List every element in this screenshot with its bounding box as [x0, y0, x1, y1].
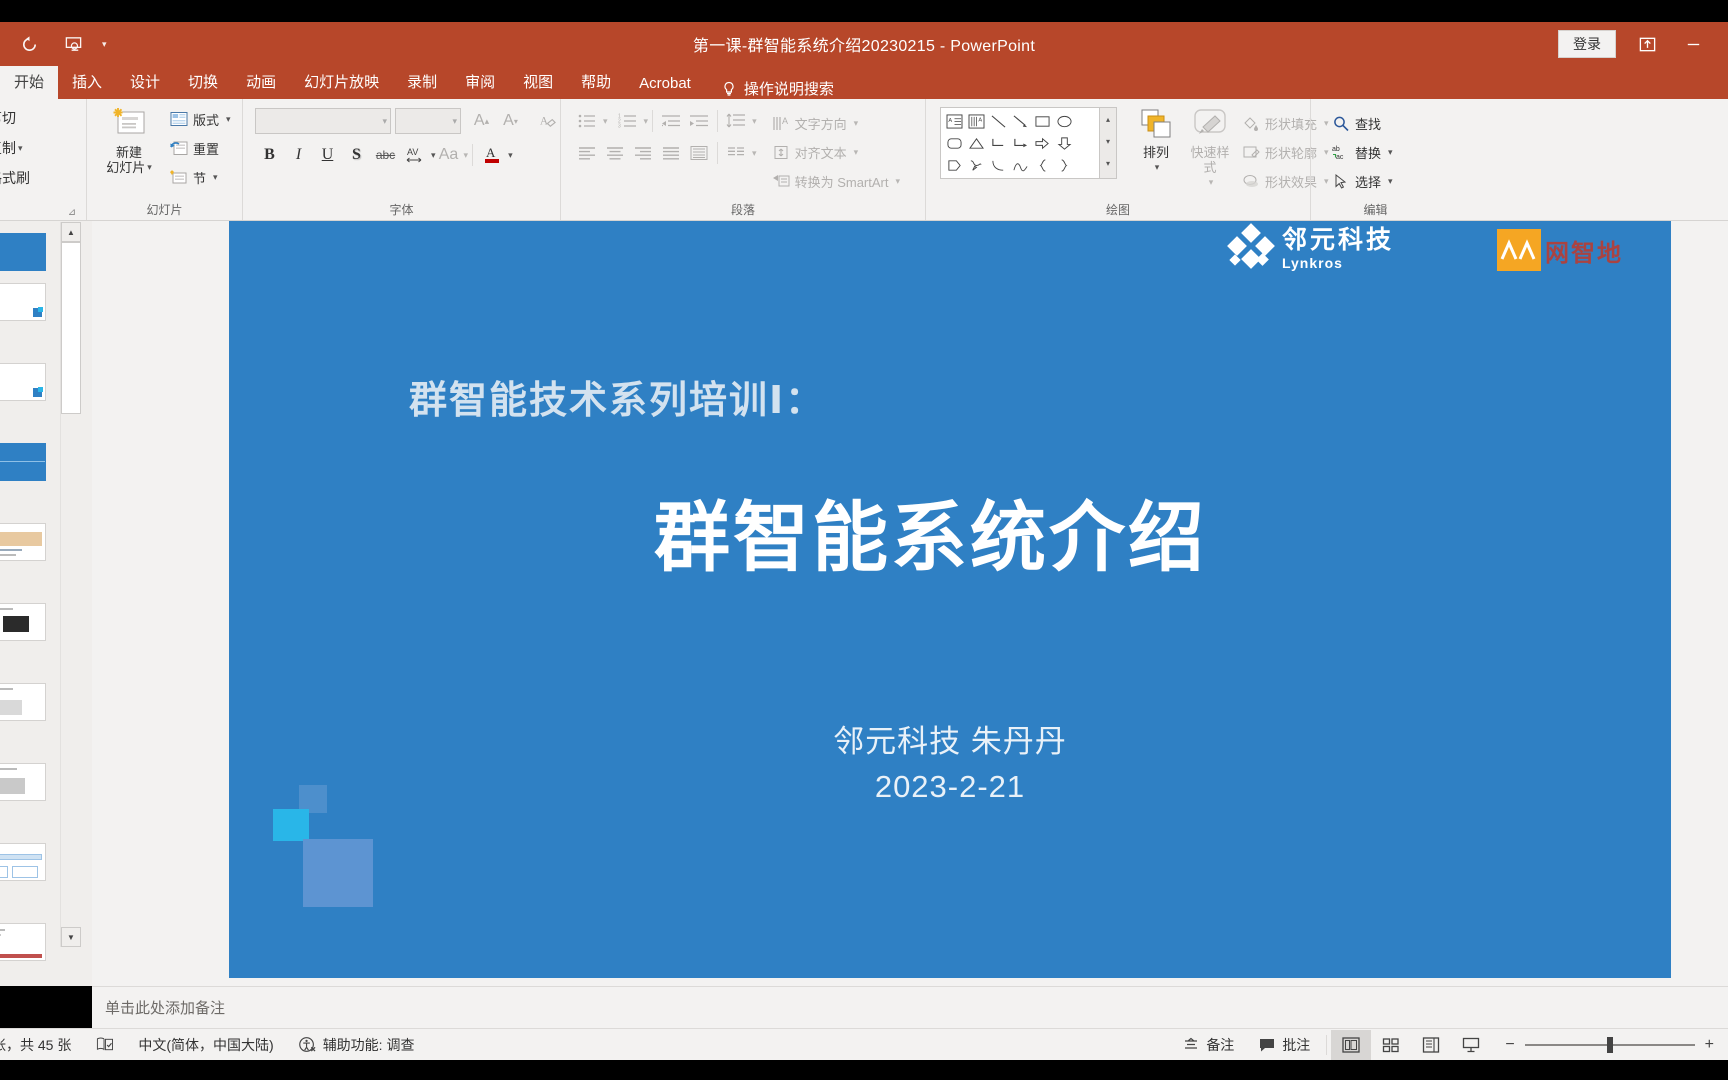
spellcheck-icon	[95, 1036, 114, 1053]
justify-button[interactable]	[657, 139, 685, 167]
tab-design[interactable]: 设计	[116, 66, 174, 99]
reading-view-button[interactable]	[1411, 1030, 1451, 1060]
chevron-down-icon[interactable]: ▾	[464, 150, 469, 161]
shape-effects-icon	[1242, 173, 1260, 190]
slide-sorter-view-button[interactable]	[1371, 1030, 1411, 1060]
arrange-icon	[1135, 105, 1177, 145]
find-button[interactable]: 查找	[1327, 109, 1398, 138]
tab-insert[interactable]: 插入	[58, 66, 116, 99]
shape-elbow-connector-icon[interactable]	[987, 132, 1009, 154]
reset-button[interactable]: 重置	[165, 134, 236, 163]
chevron-down-icon: ▾	[1155, 160, 1160, 175]
smartart-icon	[772, 173, 790, 190]
shapes-scroll-up-button[interactable]: ▴	[1100, 108, 1116, 130]
chevron-down-icon: ▾	[1388, 176, 1393, 187]
font-color-button[interactable]: A	[477, 141, 506, 169]
logo-partner: 网智地	[1497, 229, 1623, 271]
shape-rounded-rectangle-icon[interactable]	[943, 132, 965, 154]
accessibility-status[interactable]: 辅助功能: 调查	[286, 1029, 427, 1061]
tab-record[interactable]: 录制	[393, 66, 451, 99]
layout-button[interactable]: 版式 ▾	[165, 105, 236, 134]
normal-view-button[interactable]	[1331, 1030, 1371, 1060]
list-item[interactable]	[0, 843, 46, 881]
group-label-font: 字体	[249, 202, 554, 220]
text-shadow-button[interactable]: S	[342, 141, 371, 169]
svg-text:A: A	[540, 115, 549, 127]
divider	[717, 142, 718, 164]
ribbon-group-slides: 新建 幻灯片▾ 版式 ▾ 重置	[86, 99, 242, 220]
chevron-down-icon: ▾	[1388, 147, 1393, 158]
shape-right-brace-icon[interactable]	[1053, 154, 1075, 176]
list-item[interactable]	[0, 923, 46, 961]
quick-styles-label: 快速样式	[1189, 145, 1231, 175]
scroll-up-button[interactable]: ▲	[61, 222, 81, 242]
group-label-drawing: 绘图	[932, 202, 1304, 220]
group-label-clipboard: ⊿	[6, 202, 80, 220]
new-slide-icon	[109, 105, 149, 145]
shape-curve-icon[interactable]	[987, 154, 1009, 176]
list-item[interactable]	[0, 763, 46, 801]
ribbon-group-editing: 查找 abac 替换 ▾ 选择 ▾ 编辑	[1310, 99, 1440, 220]
section-button[interactable]: 节 ▾	[165, 163, 236, 192]
bold-button[interactable]: B	[255, 141, 284, 169]
arrange-label: 排列	[1143, 145, 1169, 160]
zoom-control[interactable]: − +	[1491, 1036, 1728, 1054]
shape-arrow-icon[interactable]	[1009, 110, 1031, 132]
search-icon	[1332, 115, 1350, 132]
svg-text:A: A	[948, 117, 952, 123]
tell-me-label: 操作说明搜索	[744, 78, 834, 99]
mountain-icon	[1497, 229, 1541, 271]
svg-text:A: A	[486, 145, 496, 160]
ribbon: 剪切 复制▾ 格式刷 ⊿	[0, 99, 1728, 221]
reset-icon	[170, 140, 188, 157]
divider	[1326, 1035, 1327, 1055]
svg-text:AV: AV	[407, 147, 418, 157]
chevron-down-icon: ▾	[213, 172, 218, 183]
title-bar: ▾ 第一课-群智能系统介绍20230215 - PowerPoint 登录	[0, 22, 1728, 66]
status-bar-right: 备注 批注 −	[1170, 1029, 1728, 1061]
tab-animations[interactable]: 动画	[232, 66, 290, 99]
replace-button[interactable]: abac 替换 ▾	[1327, 138, 1398, 167]
svg-text:ac: ac	[1336, 154, 1344, 161]
text-direction-button[interactable]: A 文字方向 ▾	[767, 109, 905, 138]
new-slide-label-1: 新建	[116, 145, 142, 160]
shapes-scroll-down-button[interactable]: ▾	[1100, 130, 1116, 152]
new-slide-button[interactable]: 新建 幻灯片▾	[93, 103, 165, 177]
scroll-down-button[interactable]: ▼	[61, 927, 81, 947]
shape-right-arrow-icon[interactable]	[1031, 132, 1053, 154]
notes-placeholder: 单击此处添加备注	[92, 997, 225, 1018]
increase-indent-button[interactable]	[685, 107, 713, 135]
notes-icon	[1182, 1037, 1200, 1053]
shape-more-placeholder	[1075, 132, 1097, 154]
svg-text:ab: ab	[1332, 146, 1340, 153]
logo-lynkros: 邻元科技 Lynkros	[1228, 226, 1394, 272]
shapes-more-button[interactable]: ▾	[1100, 152, 1116, 174]
shape-more-placeholder	[1075, 154, 1097, 176]
chevron-down-icon: ▾	[1209, 175, 1214, 190]
list-item[interactable]	[0, 603, 46, 641]
lightbulb-icon	[721, 81, 737, 97]
section-icon	[170, 169, 188, 186]
ribbon-group-font: ▾ ▾ A▴ A▾ A B I U S	[242, 99, 560, 220]
shapes-gallery-scroller: ▴ ▾ ▾	[1100, 107, 1117, 179]
text-direction-icon: A	[772, 115, 790, 132]
svg-text:A: A	[782, 116, 788, 126]
ribbon-tab-bar: 开始 插入 设计 切换 动画 幻灯片放映 录制 审阅 视图 帮助 Acrobat…	[0, 66, 1728, 99]
chevron-down-icon: ▾	[452, 116, 457, 127]
group-label-paragraph: 段落	[567, 202, 919, 220]
dialog-launcher-icon[interactable]: ⊿	[66, 207, 78, 219]
align-text-button[interactable]: 对齐文本 ▾	[767, 138, 905, 167]
shape-rectangle-icon[interactable]	[1031, 110, 1053, 132]
character-spacing-button[interactable]: AV	[400, 141, 429, 169]
line-spacing-button[interactable]	[722, 107, 750, 135]
diamond-pattern-icon	[1228, 226, 1274, 272]
copy-button[interactable]: 复制▾	[0, 133, 30, 163]
change-case-button[interactable]: Aa	[436, 141, 462, 169]
decrease-font-size-button[interactable]: A▾	[496, 107, 525, 135]
increase-font-size-button[interactable]: A▴	[467, 107, 496, 135]
quick-styles-button[interactable]: 快速样式 ▾	[1183, 103, 1237, 192]
columns-button[interactable]	[722, 139, 750, 167]
font-name-combobox[interactable]: ▾	[255, 108, 391, 134]
align-text-icon	[772, 144, 790, 161]
decrease-indent-button[interactable]	[657, 107, 685, 135]
arrange-button[interactable]: 排列 ▾	[1129, 103, 1183, 177]
tab-transitions[interactable]: 切换	[174, 66, 232, 99]
quick-styles-icon	[1189, 105, 1231, 145]
distribute-text-button[interactable]	[685, 139, 713, 167]
logo-lynkros-en: Lynkros	[1282, 256, 1394, 270]
shape-down-arrow-icon[interactable]	[1053, 132, 1075, 154]
slide-kicker-text[interactable]: 群智能技术系列培训Ⅰ：	[409, 369, 825, 424]
zoom-in-button[interactable]: +	[1705, 1036, 1714, 1054]
ribbon-group-drawing: A A	[925, 99, 1310, 220]
shape-triangle-icon[interactable]	[965, 132, 987, 154]
clear-formatting-icon[interactable]: A	[533, 107, 562, 135]
slide-title[interactable]: 群智能系统介绍	[654, 476, 1207, 586]
select-button[interactable]: 选择 ▾	[1327, 167, 1398, 196]
shape-textbox-icon[interactable]: A	[943, 110, 965, 132]
shape-freeform-icon[interactable]	[965, 154, 987, 176]
shape-fill-icon	[1242, 115, 1260, 132]
divider	[472, 144, 473, 166]
cut-button[interactable]: 剪切	[0, 103, 30, 133]
divider	[717, 110, 718, 132]
group-label-editing: 编辑	[1317, 202, 1434, 220]
chevron-down-icon: ▾	[382, 116, 387, 127]
group-label-slides: 幻灯片	[93, 202, 236, 220]
language-status[interactable]: 中文(简体，中国大陆)	[126, 1029, 285, 1061]
new-slide-label-2: 幻灯片	[106, 160, 145, 175]
tab-home[interactable]: 开始	[0, 66, 58, 99]
ribbon-group-paragraph: ▾ 123 ▾ ▾	[560, 99, 925, 220]
slide-canvas[interactable]: 邻元科技 Lynkros 网智地 群智能技术系列培训Ⅰ： 群智能系统介绍 邻元科…	[229, 221, 1671, 978]
strikethrough-button[interactable]: abc	[371, 141, 400, 169]
list-item[interactable]	[0, 523, 46, 561]
spellcheck-status[interactable]	[83, 1029, 126, 1061]
comment-icon	[1258, 1037, 1276, 1053]
chevron-down-icon: ▾	[147, 160, 152, 175]
tab-acrobat[interactable]: Acrobat	[625, 70, 705, 99]
tab-help[interactable]: 帮助	[567, 66, 625, 99]
thumbnail-scrollbar[interactable]: ▲ ▼	[60, 222, 80, 947]
list-item[interactable]	[0, 363, 46, 401]
chevron-down-icon: ▾	[854, 147, 859, 158]
chevron-down-icon[interactable]: ▾	[508, 150, 513, 161]
shape-arc-icon[interactable]	[1009, 154, 1031, 176]
ribbon-group-clipboard: 剪切 复制▾ 格式刷 ⊿	[0, 99, 86, 220]
align-left-button[interactable]	[573, 139, 601, 167]
shape-line-icon[interactable]	[987, 110, 1009, 132]
chevron-down-icon: ▾	[854, 118, 859, 129]
convert-to-smartart-button[interactable]: 转换为 SmartArt ▾	[767, 167, 905, 196]
slide-counter[interactable]: 张，共 45 张	[0, 1029, 83, 1061]
logo-lynkros-cn: 邻元科技	[1282, 228, 1394, 253]
list-item[interactable]	[0, 283, 46, 321]
chevron-down-icon: ▾	[896, 176, 901, 187]
shape-more-placeholder	[1075, 110, 1097, 132]
shape-elbow-arrow-icon[interactable]	[1009, 132, 1031, 154]
tab-review[interactable]: 审阅	[451, 66, 509, 99]
scrollbar-thumb[interactable]	[61, 242, 81, 414]
notes-pane[interactable]: 单击此处添加备注	[92, 986, 1728, 1028]
slideshow-view-button[interactable]	[1451, 1030, 1491, 1060]
shapes-gallery[interactable]: A A	[940, 107, 1100, 179]
shape-left-brace-icon[interactable]	[1031, 154, 1053, 176]
shape-vertical-textbox-icon[interactable]: A	[965, 110, 987, 132]
notes-toggle-button[interactable]: 备注	[1170, 1029, 1246, 1061]
font-size-combobox[interactable]: ▾	[395, 108, 461, 134]
tab-view[interactable]: 视图	[509, 66, 567, 99]
shape-ellipse-icon[interactable]	[1053, 110, 1075, 132]
layout-icon	[170, 111, 188, 128]
underline-button[interactable]: U	[313, 141, 342, 169]
bullets-button[interactable]	[573, 107, 601, 135]
window-title: 第一课-群智能系统介绍20230215 - PowerPoint	[0, 32, 1728, 56]
tell-me-search[interactable]: 操作说明搜索	[705, 78, 834, 99]
align-right-button[interactable]	[629, 139, 657, 167]
list-item[interactable]	[0, 443, 46, 481]
decorative-square	[273, 809, 309, 841]
replace-icon: abac	[1332, 144, 1350, 161]
status-bar: 张，共 45 张 中文(简体，中国大陆) 辅助功能: 调查 备注	[0, 1028, 1728, 1060]
numbering-button[interactable]: 123	[614, 107, 642, 135]
powerpoint-window: ▾ 第一课-群智能系统介绍20230215 - PowerPoint 登录 开始…	[0, 0, 1728, 1080]
slide-date[interactable]: 2023-2-21	[229, 769, 1671, 805]
list-item[interactable]	[0, 683, 46, 721]
slide-author[interactable]: 邻元科技 朱丹丹	[229, 716, 1671, 761]
logo-partner-cn: 网智地	[1545, 233, 1623, 268]
slide-thumbnail-pane[interactable]: ▲ ▼	[0, 221, 92, 986]
shape-outline-icon	[1242, 144, 1260, 161]
zoom-out-button[interactable]: −	[1505, 1036, 1514, 1054]
list-item[interactable]	[0, 233, 46, 271]
align-center-button[interactable]	[601, 139, 629, 167]
svg-text:3: 3	[618, 124, 621, 130]
divider	[652, 110, 653, 132]
italic-button[interactable]: I	[284, 141, 313, 169]
zoom-slider[interactable]	[1525, 1044, 1695, 1046]
zoom-slider-handle[interactable]	[1607, 1037, 1613, 1053]
chevron-down-icon[interactable]: ▾	[644, 116, 649, 127]
shape-pentagon-icon[interactable]	[943, 154, 965, 176]
svg-text:A: A	[978, 117, 982, 123]
chevron-down-icon: ▾	[226, 114, 231, 125]
workspace: ▲ ▼ 邻元科技 Lynkros	[0, 221, 1728, 986]
tab-slideshow[interactable]: 幻灯片放映	[290, 66, 393, 99]
chevron-down-icon: ▾	[18, 143, 23, 154]
accessibility-icon	[298, 1036, 317, 1053]
cursor-icon	[1332, 173, 1350, 190]
comments-toggle-button[interactable]: 批注	[1246, 1029, 1322, 1061]
chevron-down-icon[interactable]: ▾	[603, 116, 608, 127]
decorative-square	[303, 839, 373, 907]
format-painter-button[interactable]: 格式刷	[0, 163, 30, 193]
